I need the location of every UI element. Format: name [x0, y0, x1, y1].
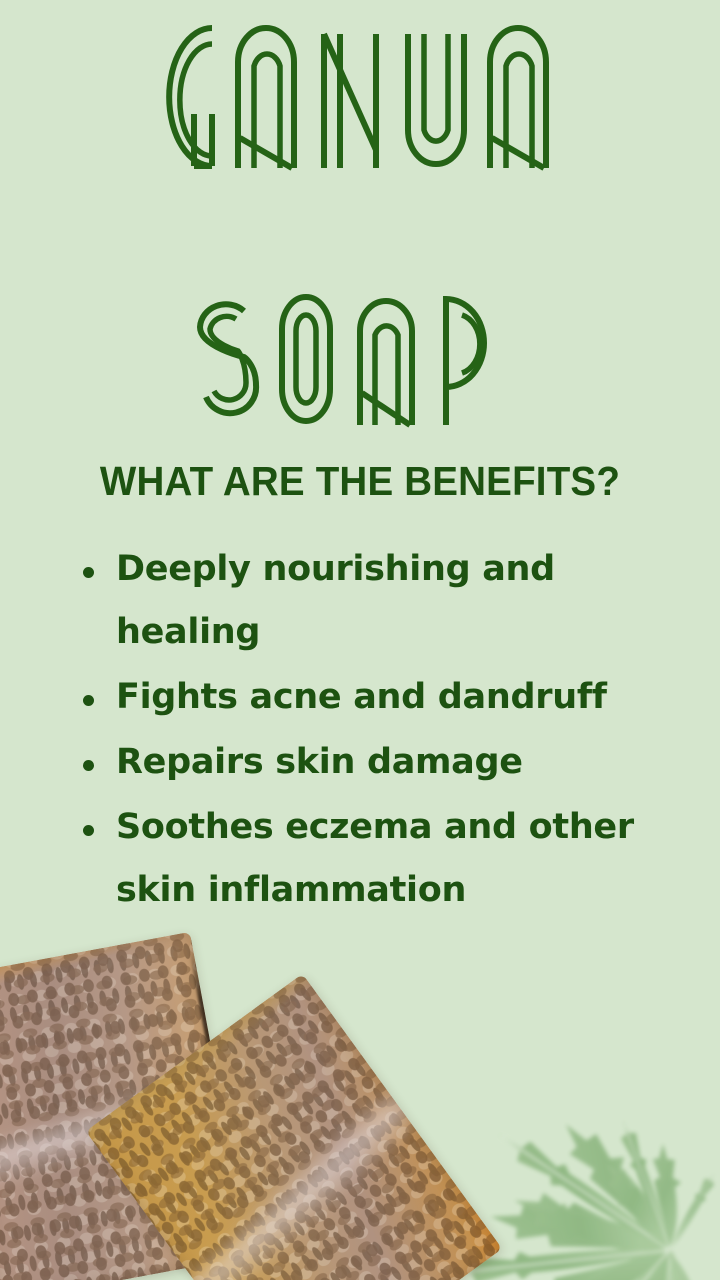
list-item-label: Repairs skin damage — [116, 742, 523, 782]
glyph-G — [169, 28, 212, 166]
title-line-2: SOAP — [0, 285, 720, 431]
bullet-dot-icon — [83, 695, 94, 706]
benefits-heading: WHAT ARE THE BENEFITS? — [22, 458, 699, 505]
glyph-S — [200, 304, 256, 413]
list-item: Fights acne and dandruff — [72, 666, 696, 729]
list-item-label: Fights acne and dandruff — [116, 677, 607, 717]
glyph-A — [238, 28, 294, 168]
bullet-dot-icon — [83, 760, 94, 771]
list-item-label: Soothes eczema and other skin inflammati… — [116, 807, 634, 910]
glyph-A-3 — [360, 301, 412, 425]
bullet-dot-icon — [83, 567, 94, 578]
glyph-A-2 — [490, 28, 546, 168]
poster-canvas: GANJA — [0, 0, 720, 1280]
list-item: Repairs skin damage — [72, 731, 696, 794]
list-item-label: Deeply nourishing and healing — [116, 549, 555, 652]
title-line-1: GANJA — [0, 18, 720, 178]
glyph-J — [408, 34, 464, 164]
glyph-P — [446, 299, 484, 425]
glyph-O — [282, 297, 330, 421]
list-item: Soothes eczema and other skin inflammati… — [72, 796, 696, 922]
bullet-dot-icon — [83, 825, 94, 836]
glyph-N — [324, 34, 376, 168]
benefits-list: Deeply nourishing and healing Fights acn… — [72, 538, 696, 924]
list-item: Deeply nourishing and healing — [72, 538, 696, 664]
